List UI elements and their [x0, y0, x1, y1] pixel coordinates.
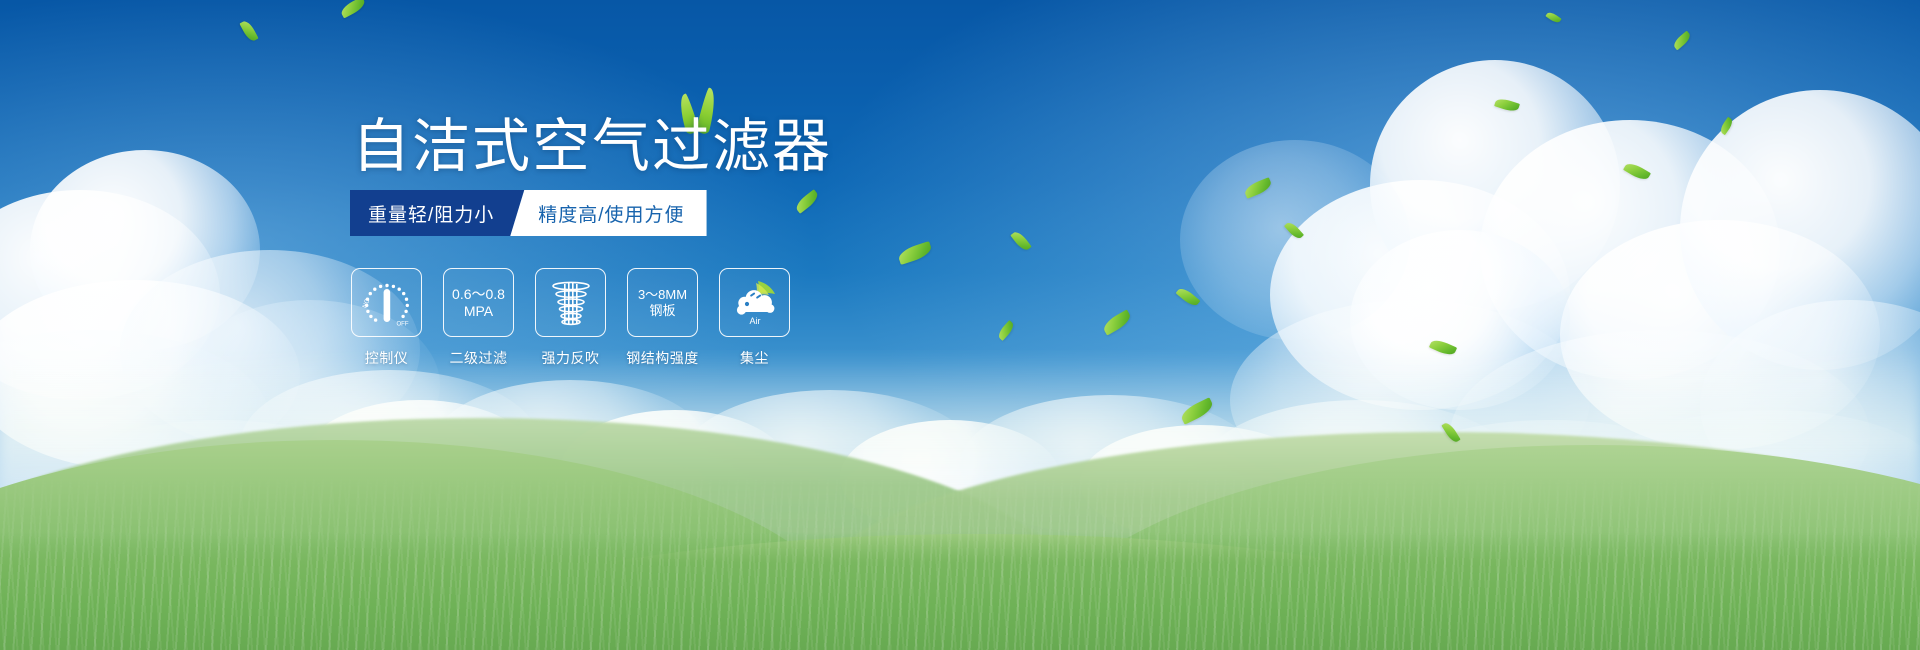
badge-lightweight: 重量轻/阻力小	[350, 190, 524, 236]
badge-precision: 精度高/使用方便	[510, 190, 706, 236]
badge-group: 重量轻/阻力小 精度高/使用方便	[350, 190, 707, 236]
feature-list: NO OFF 控制仪 0.6～0.8 MPA 二级过滤	[352, 268, 789, 368]
feature-caption: 控制仪	[365, 348, 409, 368]
coil-spring-icon	[535, 268, 606, 337]
page-title: 自洁式空气过滤器	[352, 118, 832, 176]
air-cloud-icon: Air	[719, 268, 790, 337]
svg-text:NO: NO	[361, 297, 371, 309]
feature-item: NO OFF 控制仪	[352, 268, 421, 368]
svg-text:OFF: OFF	[396, 321, 408, 327]
feature-item: 强力反吹	[536, 268, 605, 368]
pressure-value-range: 0.6～0.8	[452, 286, 505, 303]
gauge-dial-icon: NO OFF	[351, 268, 422, 337]
steel-plate-icon: 3～8MM 钢板	[627, 268, 698, 337]
feature-item: Air 集尘	[720, 268, 789, 368]
pressure-text-icon: 0.6～0.8 MPA	[443, 268, 514, 337]
feature-caption: 钢结构强度	[626, 348, 699, 368]
feature-item: 3～8MM 钢板 钢结构强度	[628, 268, 697, 368]
pressure-value-unit: MPA	[452, 303, 505, 320]
steel-material: 钢板	[638, 303, 687, 319]
banner-stage: 自洁式空气过滤器 重量轻/阻力小 精度高/使用方便	[0, 0, 1920, 650]
feature-item: 0.6～0.8 MPA 二级过滤	[444, 268, 513, 368]
steel-thickness: 3～8MM	[638, 287, 687, 303]
feature-caption: 二级过滤	[450, 348, 508, 368]
air-label: Air	[749, 316, 760, 326]
feature-caption: 强力反吹	[542, 348, 600, 368]
feature-caption: 集尘	[740, 348, 769, 368]
